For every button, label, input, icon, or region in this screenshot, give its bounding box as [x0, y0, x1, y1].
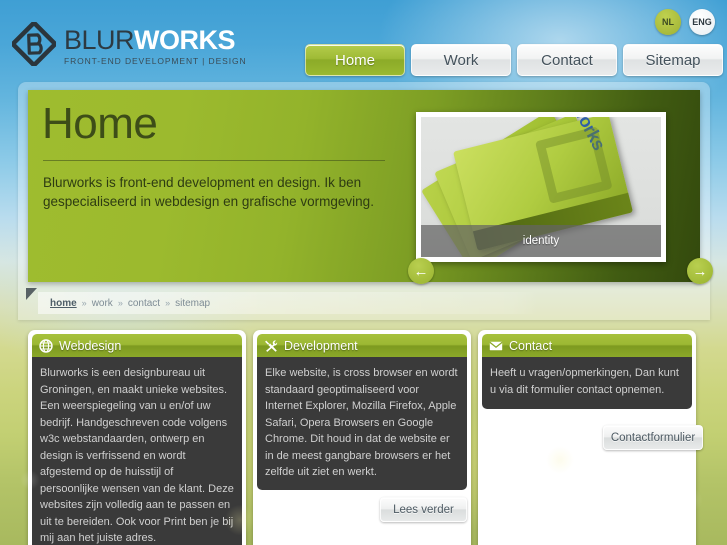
main-navigation[interactable]: Home Work Contact Sitemap [305, 44, 723, 76]
breadcrumb-separator: » [165, 298, 170, 308]
slider-prev-icon[interactable]: ← [408, 258, 434, 284]
lang-button-nl[interactable]: NL [655, 9, 681, 35]
nav-item-work[interactable]: Work [411, 44, 511, 76]
arrow-right-glyph: → [693, 264, 708, 279]
info-box-body-contact: Heeft u vragen/opmerkingen, Dan kunt u v… [482, 357, 692, 409]
nav-label-contact: Contact [541, 52, 593, 69]
read-more-button-label: Lees verder [393, 504, 454, 516]
lang-label-nl: NL [662, 17, 674, 27]
info-box-title-contact: Contact [509, 339, 552, 353]
logo-title-bold: WORKS [134, 25, 235, 55]
nav-label-sitemap: Sitemap [645, 52, 700, 69]
info-box-header-contact: Contact [482, 334, 692, 357]
site-logo[interactable]: BLURWORKS FRONT-END DEVELOPMENT | DESIGN [12, 22, 247, 66]
info-box-body-webdesign: Blurworks is een designbureau uit Gronin… [32, 357, 242, 545]
nav-label-work: Work [444, 52, 479, 69]
logo-tagline: FRONT-END DEVELOPMENT | DESIGN [64, 56, 247, 66]
breadcrumb-item-contact[interactable]: contact [128, 298, 160, 309]
hero-description: Blurworks is front-end development en de… [43, 173, 398, 211]
info-box-header-webdesign: Webdesign [32, 334, 242, 357]
nav-item-home[interactable]: Home [305, 44, 405, 76]
slide-caption: identity [421, 225, 661, 257]
hero-slide-frame[interactable]: blurworks identity [416, 112, 666, 262]
page-title: Home [42, 102, 157, 146]
breadcrumb-item-work[interactable]: work [92, 298, 113, 309]
arrow-left-glyph: ← [414, 264, 429, 279]
lang-label-eng: ENG [692, 17, 712, 27]
globe-icon [39, 339, 53, 353]
diamond-b-icon [12, 22, 56, 66]
contact-form-button-label: Contactformulier [611, 432, 695, 444]
read-more-button[interactable]: Lees verder [380, 497, 467, 522]
language-switcher[interactable]: NL ENG [655, 9, 715, 35]
breadcrumb-item-home[interactable]: home [50, 298, 77, 309]
tools-icon [264, 339, 278, 353]
info-box-title-webdesign: Webdesign [59, 339, 121, 353]
info-boxes-row: Webdesign Blurworks is een designbureau … [28, 330, 696, 545]
envelope-icon [489, 339, 503, 353]
content-panel: Home Blurworks is front-end development … [18, 82, 710, 320]
logo-title: BLURWORKS [64, 27, 247, 54]
hero-divider [43, 160, 385, 161]
contact-form-button[interactable]: Contactformulier [603, 425, 703, 450]
hero-slide-image: blurworks identity [421, 117, 661, 257]
info-box-title-development: Development [284, 339, 358, 353]
info-box-header-development: Development [257, 334, 467, 357]
hero-banner: Home Blurworks is front-end development … [28, 90, 700, 282]
lang-button-eng[interactable]: ENG [689, 9, 715, 35]
slider-next-icon[interactable]: → [687, 258, 713, 284]
nav-label-home: Home [335, 52, 375, 69]
logo-title-light: BLUR [64, 25, 134, 55]
breadcrumb-separator: » [118, 298, 123, 308]
nav-item-sitemap[interactable]: Sitemap [623, 44, 723, 76]
breadcrumb[interactable]: home » work » contact » sitemap [38, 292, 538, 314]
nav-item-contact[interactable]: Contact [517, 44, 617, 76]
breadcrumb-item-sitemap[interactable]: sitemap [175, 298, 210, 309]
info-box-body-development: Elke website, is cross browser en wordt … [257, 357, 467, 490]
breadcrumb-separator: » [82, 298, 87, 308]
logo-wordmark: BLURWORKS FRONT-END DEVELOPMENT | DESIGN [64, 27, 247, 66]
info-box-webdesign: Webdesign Blurworks is een designbureau … [28, 330, 246, 545]
breadcrumb-tab-icon [26, 288, 37, 300]
page-root: BLURWORKS FRONT-END DEVELOPMENT | DESIGN… [0, 0, 727, 545]
